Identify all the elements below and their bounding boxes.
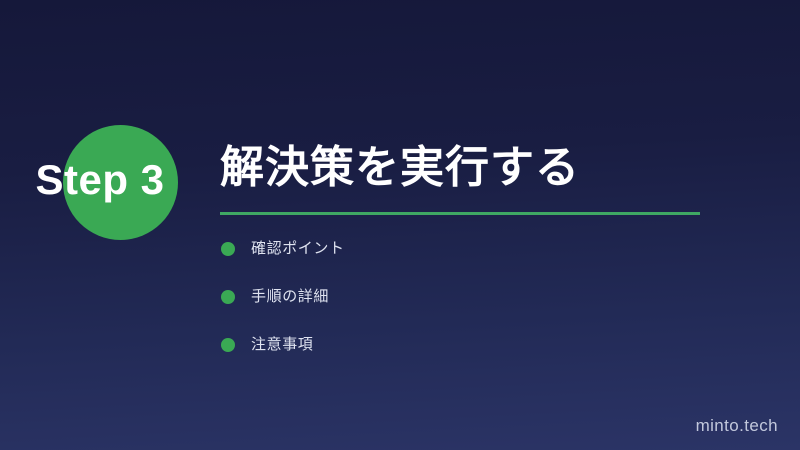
list-item-label: 手順の詳細 [251, 286, 329, 308]
list-item: 手順の詳細 [221, 286, 701, 308]
bullet-list: 確認ポイント 手順の詳細 注意事項 [221, 238, 701, 382]
step-badge: Step 3 [0, 120, 210, 240]
step-number-label: Step 3 [0, 120, 200, 240]
list-item: 注意事項 [221, 334, 701, 356]
title-divider [220, 212, 700, 215]
bullet-dot-icon [221, 290, 235, 304]
watermark-label: minto.tech [696, 416, 778, 436]
list-item-label: 確認ポイント [251, 238, 345, 260]
title-block: 解決策を実行する [220, 140, 760, 215]
list-item: 確認ポイント [221, 238, 701, 260]
bullet-dot-icon [221, 338, 235, 352]
slide-canvas: Step 3 解決策を実行する 確認ポイント 手順の詳細 注意事項 minto.… [0, 0, 800, 450]
list-item-label: 注意事項 [251, 334, 313, 356]
page-title: 解決策を実行する [220, 140, 760, 196]
bullet-dot-icon [221, 242, 235, 256]
